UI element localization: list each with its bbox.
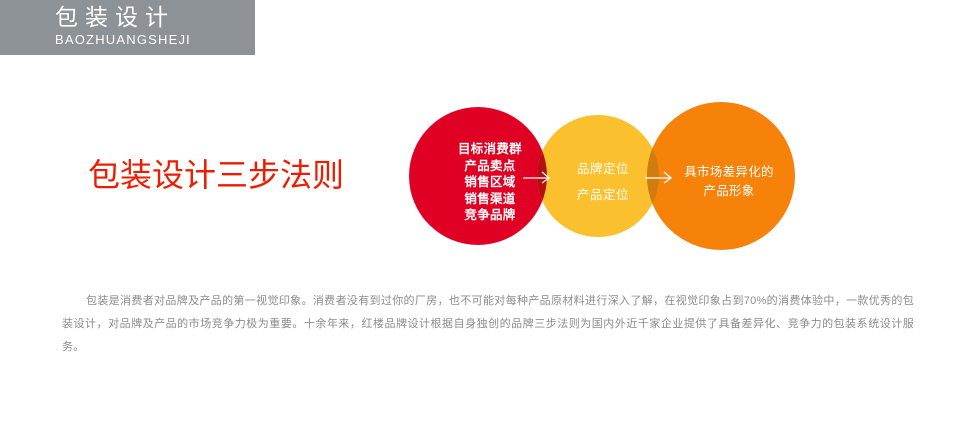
venn-circle-red [409,107,547,245]
page-title: 包装设计三步法则 [88,155,344,195]
body-paragraph: 包装是消费者对品牌及产品的第一视觉印象。消费者没有到过你的厂房，也不可能对每种产… [62,290,914,359]
venn-circle-yellow [537,115,659,237]
header-title-chinese: 包装设计 [55,2,175,32]
header-banner: 包装设计 BAOZHUANGSHEJI [0,0,255,55]
header-title-pinyin: BAOZHUANGSHEJI [55,32,191,48]
three-step-venn-diagram: 目标消费群 产品卖点 销售区域 销售渠道 竞争品牌 品牌定位 产品定位 具市场差… [405,100,805,255]
